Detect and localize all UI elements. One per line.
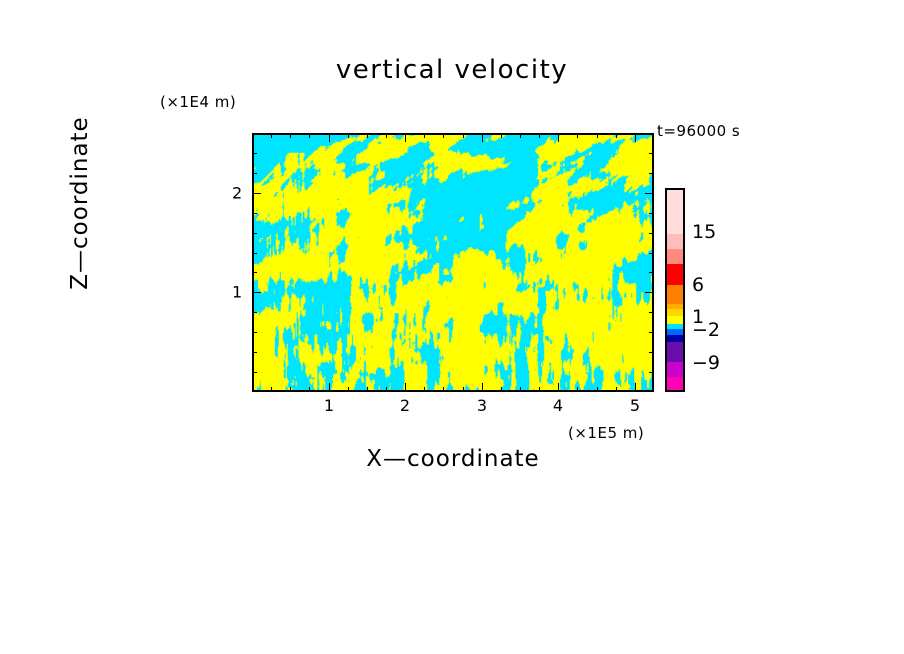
y-minor-tick-right — [649, 253, 654, 254]
x-tick-label: 5 — [630, 396, 640, 415]
x-minor-tick-top — [271, 133, 272, 138]
colorbar-segment — [667, 264, 683, 285]
x-major-tick-top — [635, 133, 636, 142]
colorbar-segment — [667, 190, 683, 234]
colorbar-segment — [667, 249, 683, 264]
colorbar-segment — [667, 335, 683, 342]
x-minor-tick-top — [577, 133, 578, 138]
y-major-tick-right — [645, 193, 654, 194]
x-major-tick — [635, 383, 636, 392]
colorbar-segment — [667, 309, 683, 316]
chart-title-text: vertical velocity — [336, 55, 568, 85]
colorbar-segment — [667, 342, 683, 362]
y-major-tick — [252, 193, 261, 194]
x-minor-tick — [309, 387, 310, 392]
x-minor-tick-top — [290, 133, 291, 138]
y-tick-label: 1 — [232, 283, 242, 302]
x-axis-unit-label: (×1E5 m) — [568, 424, 644, 442]
x-minor-tick-top — [424, 133, 425, 138]
y-minor-tick-right — [649, 153, 654, 154]
y-minor-tick-right — [649, 272, 654, 273]
x-major-tick-top — [329, 133, 330, 142]
y-minor-tick-right — [649, 332, 654, 333]
x-minor-tick — [271, 387, 272, 392]
y-minor-tick-right — [649, 372, 654, 373]
x-minor-tick — [577, 387, 578, 392]
x-tick-label: 4 — [553, 396, 563, 415]
x-minor-tick-top — [309, 133, 310, 138]
colorbar-segment — [667, 316, 683, 324]
x-major-tick — [405, 383, 406, 392]
heatmap-plot-area — [252, 133, 654, 392]
y-axis-title: Z—coordinate — [67, 63, 93, 343]
x-major-tick-top — [405, 133, 406, 142]
x-major-tick — [558, 383, 559, 392]
y-minor-tick — [252, 352, 257, 353]
x-minor-tick — [463, 387, 464, 392]
y-minor-tick — [252, 312, 257, 313]
y-minor-tick-right — [649, 213, 654, 214]
x-minor-tick — [424, 387, 425, 392]
colorbar-tick-label: −2 — [692, 319, 720, 341]
time-annotation: t=96000 s — [657, 122, 740, 140]
x-minor-tick — [443, 387, 444, 392]
x-tick-label: 3 — [477, 396, 487, 415]
x-minor-tick — [501, 387, 502, 392]
y-axis-unit-label: (×1E4 m) — [160, 93, 236, 111]
y-minor-tick — [252, 233, 257, 234]
y-minor-tick-right — [649, 312, 654, 313]
y-minor-tick — [252, 173, 257, 174]
x-minor-tick — [597, 387, 598, 392]
y-minor-tick — [252, 213, 257, 214]
x-minor-tick-top — [443, 133, 444, 138]
x-major-tick-top — [482, 133, 483, 142]
x-minor-tick-top — [616, 133, 617, 138]
x-major-tick — [482, 383, 483, 392]
x-minor-tick-top — [501, 133, 502, 138]
velocity-field-canvas — [254, 135, 652, 390]
y-minor-tick — [252, 332, 257, 333]
x-minor-tick-top — [539, 133, 540, 138]
x-tick-label: 2 — [400, 396, 410, 415]
x-major-tick — [329, 383, 330, 392]
colorbar-segment — [667, 377, 683, 390]
y-tick-label: 2 — [232, 184, 242, 203]
colorbar-segment — [667, 234, 683, 249]
x-tick-label: 1 — [324, 396, 334, 415]
colorbar-segment — [667, 362, 683, 377]
y-minor-tick-right — [649, 352, 654, 353]
x-minor-tick-top — [367, 133, 368, 138]
y-minor-tick — [252, 272, 257, 273]
colorbar — [665, 188, 685, 392]
x-minor-tick — [290, 387, 291, 392]
chart-title: vertical velocity — [0, 55, 904, 85]
x-minor-tick — [367, 387, 368, 392]
x-minor-tick — [616, 387, 617, 392]
x-minor-tick-top — [597, 133, 598, 138]
y-minor-tick — [252, 153, 257, 154]
y-major-tick-right — [645, 292, 654, 293]
figure-root: vertical velocity (×1E4 m) (×1E5 m) t=96… — [0, 0, 904, 654]
x-minor-tick-top — [386, 133, 387, 138]
x-axis-title: X—coordinate — [252, 446, 654, 472]
colorbar-tick-label: 15 — [692, 221, 716, 243]
x-minor-tick — [386, 387, 387, 392]
y-minor-tick — [252, 372, 257, 373]
colorbar-labels: 1561−2−9 — [692, 188, 752, 392]
x-minor-tick — [539, 387, 540, 392]
x-minor-tick-top — [348, 133, 349, 138]
x-minor-tick — [520, 387, 521, 392]
y-minor-tick-right — [649, 233, 654, 234]
y-minor-tick-right — [649, 173, 654, 174]
x-minor-tick-top — [463, 133, 464, 138]
x-minor-tick-top — [520, 133, 521, 138]
colorbar-tick-label: 6 — [692, 274, 704, 296]
colorbar-segment — [667, 285, 683, 304]
x-minor-tick — [348, 387, 349, 392]
x-major-tick-top — [558, 133, 559, 142]
y-minor-tick — [252, 253, 257, 254]
y-major-tick — [252, 292, 261, 293]
colorbar-tick-label: −9 — [692, 352, 720, 374]
